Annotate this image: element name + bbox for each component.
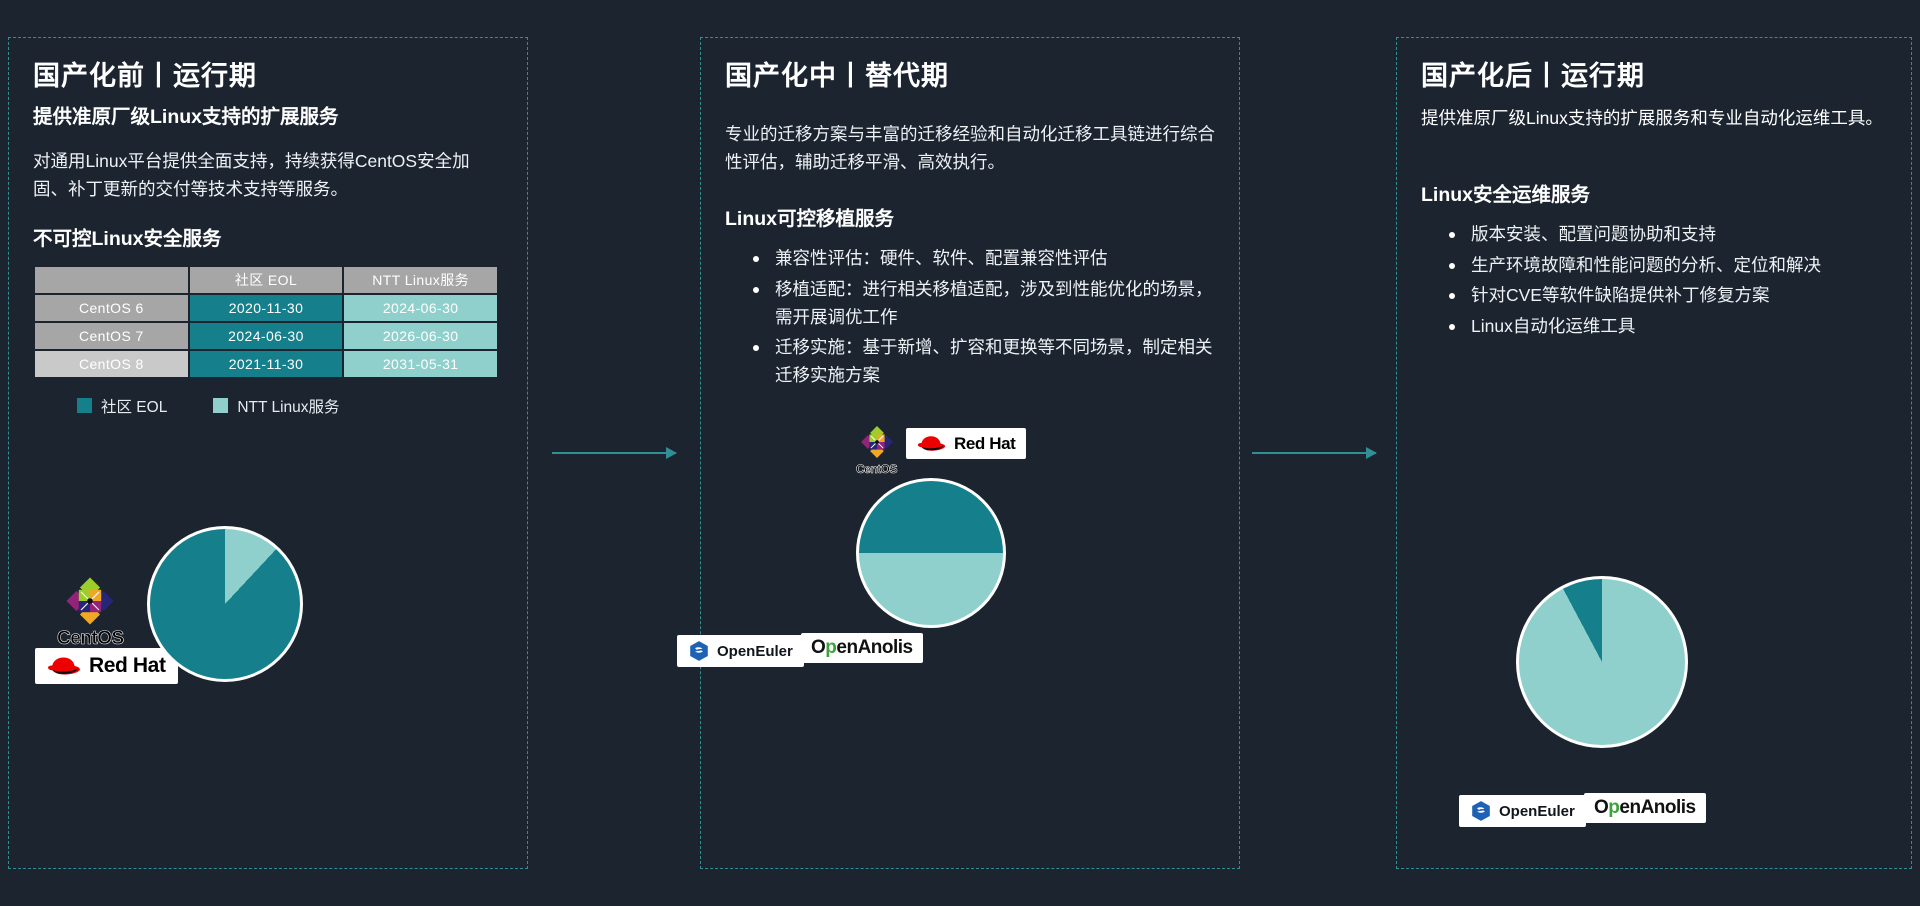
- centos-icon: [858, 423, 896, 461]
- stage3-pie-chart: [1516, 576, 1688, 748]
- list-item: 兼容性评估：硬件、软件、配置兼容性评估: [751, 245, 1215, 273]
- table-cell-os: CentOS 8: [35, 351, 188, 377]
- table-cell-ntt: 2031-05-31: [344, 351, 497, 377]
- table-header-cell: NTT Linux服务: [344, 267, 497, 293]
- table-row: CentOS 6 2020-11-30 2024-06-30: [35, 295, 497, 321]
- panel-section-title: 不可控Linux安全服务: [33, 222, 503, 251]
- centos-icon: [62, 573, 118, 629]
- redhat-logo: Red Hat: [906, 428, 1026, 459]
- list-item: 版本安装、配置问题协助和支持: [1447, 221, 1887, 249]
- redhat-fedora-icon: [47, 654, 81, 678]
- openeuler-icon: [1470, 800, 1492, 822]
- stage-board: 国产化前丨运行期 提供准原厂级Linux支持的扩展服务 对通用Linux平台提供…: [0, 0, 1920, 906]
- openanolis-logo: OpenAnolis: [1584, 793, 1706, 823]
- table-header-cell: [35, 267, 188, 293]
- pie-slice-group: [147, 526, 303, 682]
- list-item: 针对CVE等软件缺陷提供补丁修复方案: [1447, 282, 1887, 310]
- list-item: 移植适配：进行相关移植适配，涉及到性能优化的场景，需开展调优工作: [751, 276, 1215, 331]
- table-cell-os: CentOS 7: [35, 323, 188, 349]
- table-header-row: 社区 EOL NTT Linux服务: [35, 267, 497, 293]
- table-cell-os: CentOS 6: [35, 295, 188, 321]
- openeuler-wordmark: OpenEuler: [1499, 803, 1575, 820]
- panel-title: 国产化前丨运行期: [33, 60, 503, 94]
- panel-subtitle: 提供准原厂级Linux支持的扩展服务和专业自动化运维工具。: [1421, 104, 1887, 132]
- table-cell-eol: 2020-11-30: [190, 295, 343, 321]
- openanolis-logo: OpenAnolis: [801, 633, 923, 663]
- legend-swatch-icon: [77, 398, 92, 413]
- openeuler-icon: [688, 640, 710, 662]
- stage1-pie-chart: [147, 526, 303, 682]
- panel-stage-during: 国产化中丨替代期 专业的迁移方案与丰富的迁移经验和自动化迁移工具链进行综合性评估…: [700, 37, 1240, 869]
- stage2-pie-chart: [856, 478, 1006, 628]
- panel-description: 专业的迁移方案与丰富的迁移经验和自动化迁移工具链进行综合性评估，辅助迁移平滑、高…: [725, 120, 1215, 177]
- table-cell-eol: 2024-06-30: [190, 323, 343, 349]
- pie-slice-group: [1516, 576, 1688, 748]
- list-item: 生产环境故障和性能问题的分析、定位和解决: [1447, 252, 1887, 280]
- pie-slice-group: [856, 478, 1006, 628]
- legend-item-ntt: NTT Linux服务: [213, 395, 339, 417]
- redhat-fedora-icon: [917, 433, 946, 454]
- panel-title: 国产化后丨运行期: [1421, 60, 1887, 94]
- centos-wordmark: CentOS: [57, 628, 124, 650]
- table-row: CentOS 7 2024-06-30 2026-06-30: [35, 323, 497, 349]
- arrow-stage2-to-stage3: [1252, 452, 1376, 454]
- openanolis-wordmark: OpenAnolis: [1594, 797, 1696, 819]
- openanolis-wordmark: OpenAnolis: [811, 637, 913, 659]
- openeuler-wordmark: OpenEuler: [717, 643, 793, 660]
- legend-swatch-icon: [213, 398, 228, 413]
- centos-logo: CentOS: [856, 423, 897, 476]
- legend-item-eol: 社区 EOL: [77, 395, 167, 417]
- centos-logo: CentOS: [57, 573, 124, 650]
- redhat-wordmark: Red Hat: [954, 434, 1015, 454]
- chart-legend: 社区 EOL NTT Linux服务: [77, 395, 503, 417]
- service-bullet-list: 兼容性评估：硬件、软件、配置兼容性评估 移植适配：进行相关移植适配，涉及到性能优…: [725, 245, 1215, 389]
- service-bullet-list: 版本安装、配置问题协助和支持 生产环境故障和性能问题的分析、定位和解决 针对CV…: [1421, 221, 1887, 341]
- table-header-cell: 社区 EOL: [190, 267, 343, 293]
- table-row: CentOS 8 2021-11-30 2031-05-31: [35, 351, 497, 377]
- list-item: Linux自动化运维工具: [1447, 313, 1887, 341]
- arrow-stage1-to-stage2: [552, 452, 676, 454]
- list-item: 迁移实施：基于新增、扩容和更换等不同场景，制定相关迁移实施方案: [751, 334, 1215, 389]
- legend-label: NTT Linux服务: [237, 395, 339, 417]
- legend-label: 社区 EOL: [101, 395, 167, 417]
- table-cell-ntt: 2026-06-30: [344, 323, 497, 349]
- panel-section-title: Linux可控移植服务: [725, 202, 1215, 231]
- centos-wordmark: CentOS: [856, 462, 897, 476]
- panel-subtitle: 提供准原厂级Linux支持的扩展服务: [33, 104, 503, 131]
- openeuler-logo: OpenEuler: [677, 635, 804, 667]
- table-cell-eol: 2021-11-30: [190, 351, 343, 377]
- table-cell-ntt: 2024-06-30: [344, 295, 497, 321]
- panel-section-title: Linux安全运维服务: [1421, 178, 1887, 207]
- panel-stage-before: 国产化前丨运行期 提供准原厂级Linux支持的扩展服务 对通用Linux平台提供…: [8, 37, 528, 869]
- panel-description: 对通用Linux平台提供全面支持，持续获得CentOS安全加固、补丁更新的交付等…: [33, 147, 503, 204]
- panel-title: 国产化中丨替代期: [725, 60, 1215, 94]
- centos-eol-table: 社区 EOL NTT Linux服务 CentOS 6 2020-11-30 2…: [33, 265, 499, 379]
- openeuler-logo: OpenEuler: [1459, 795, 1586, 827]
- panel-stage-after: 国产化后丨运行期 提供准原厂级Linux支持的扩展服务和专业自动化运维工具。 L…: [1396, 37, 1912, 869]
